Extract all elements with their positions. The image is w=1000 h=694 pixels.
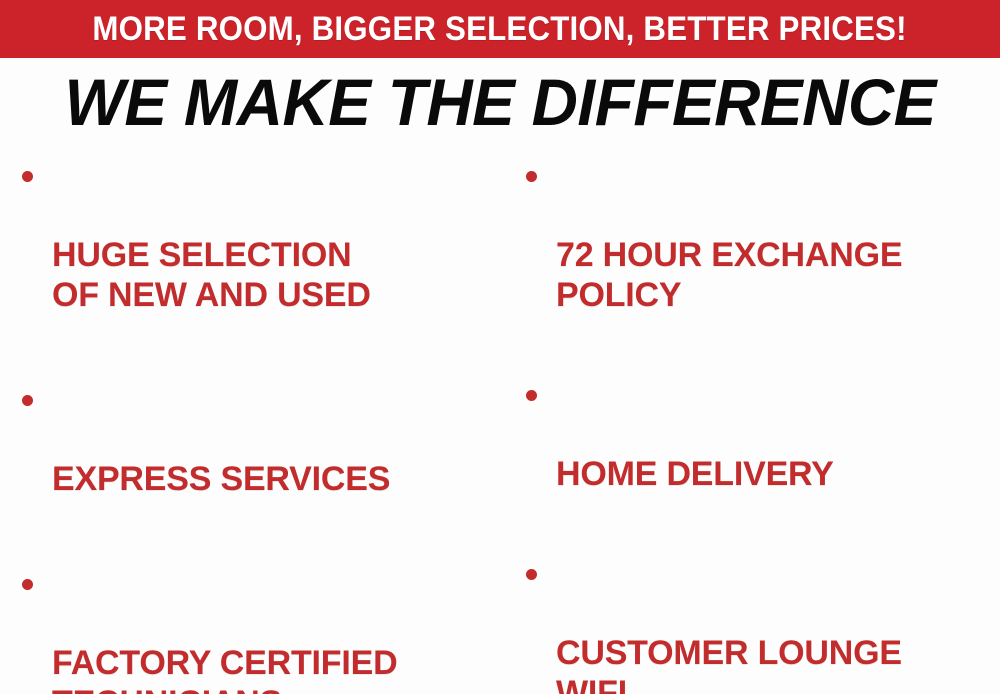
banner-headline-text: MORE ROOM, BIGGER SELECTION, BETTER PRIC… (93, 12, 907, 46)
benefits-column-right: 72 HOUR EXCHANGE POLICY HOME DELIVERY CU… (516, 155, 1000, 694)
bullet-dot-icon (526, 569, 537, 580)
list-item: HUGE SELECTION OF NEW AND USED (12, 155, 492, 355)
list-item: HOME DELIVERY (516, 374, 1000, 534)
bullet-dot-icon (22, 395, 33, 406)
list-item-label: HOME DELIVERY (554, 454, 1000, 494)
list-item: EXPRESS SERVICES (12, 379, 492, 539)
list-item-label: CUSTOMER LOUNGE WIFI (554, 633, 1000, 694)
benefits-column-left: HUGE SELECTION OF NEW AND USED EXPRESS S… (12, 155, 492, 694)
bullet-dot-icon (22, 171, 33, 182)
list-item-label: FACTORY CERTIFIED TECHNICIANS (50, 643, 492, 694)
list-item-label: HUGE SELECTION OF NEW AND USED (50, 235, 492, 315)
promotional-poster: MORE ROOM, BIGGER SELECTION, BETTER PRIC… (0, 0, 1000, 694)
list-item: CUSTOMER LOUNGE WIFI (516, 553, 1000, 694)
main-headline: WE MAKE THE DIFFERENCE (64, 67, 935, 137)
bullet-dot-icon (526, 171, 537, 182)
list-item: 72 HOUR EXCHANGE POLICY (516, 155, 1000, 355)
list-item: FACTORY CERTIFIED TECHNICIANS (12, 563, 492, 694)
list-item-label: 72 HOUR EXCHANGE POLICY (554, 235, 1000, 315)
top-banner: MORE ROOM, BIGGER SELECTION, BETTER PRIC… (0, 0, 1000, 58)
benefits-columns: HUGE SELECTION OF NEW AND USED EXPRESS S… (0, 155, 1000, 694)
bullet-dot-icon (22, 579, 33, 590)
main-headline-container: WE MAKE THE DIFFERENCE (0, 63, 1000, 141)
list-item-label: EXPRESS SERVICES (50, 459, 492, 499)
bullet-dot-icon (526, 390, 537, 401)
